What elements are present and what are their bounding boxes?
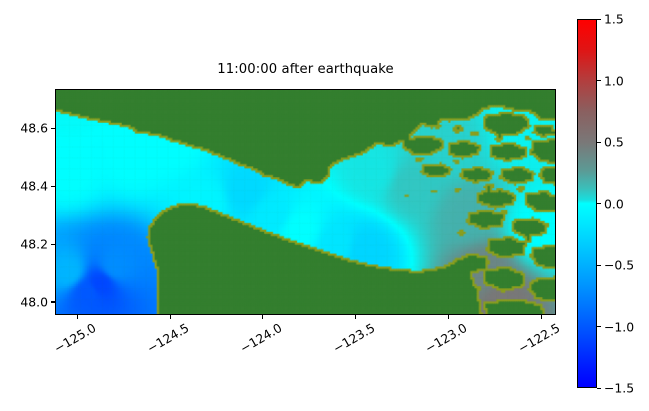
colorbar-tick-mark xyxy=(597,203,601,204)
x-tick-mark xyxy=(170,315,171,319)
y-tick-label: 48.2 xyxy=(20,237,48,252)
x-tick-label: −124.5 xyxy=(144,320,191,356)
x-tick-label: −123.0 xyxy=(423,320,470,356)
y-tick-label: 48.4 xyxy=(20,179,48,194)
x-tick-label: −125.0 xyxy=(52,320,99,356)
colorbar-tick-label: 0.5 xyxy=(604,135,624,150)
x-tick-label: −122.5 xyxy=(515,320,562,356)
y-axis: 48.048.248.448.6 xyxy=(0,0,50,411)
tsunami-figure: 11:00:00 after earthquake 48.048.248.448… xyxy=(0,0,649,411)
y-tick-mark xyxy=(51,301,55,302)
colorbar-tick-label: −1.0 xyxy=(604,319,634,334)
y-tick-label: 48.0 xyxy=(20,294,48,309)
page-title: 11:00:00 after earthquake xyxy=(55,62,556,77)
colorbar-tick-mark xyxy=(597,19,601,20)
wave-amplitude-heatmap xyxy=(56,90,555,314)
x-tick-mark xyxy=(262,315,263,319)
x-tick-mark xyxy=(541,315,542,319)
x-tick-mark xyxy=(355,315,356,319)
y-tick-mark xyxy=(51,244,55,245)
colorbar-tick-mark xyxy=(597,265,601,266)
x-tick-label: −123.5 xyxy=(330,320,377,356)
y-tick-mark xyxy=(51,128,55,129)
colorbar-tick-label: −0.5 xyxy=(604,258,634,273)
x-tick-mark xyxy=(448,315,449,319)
colorbar-tick-mark xyxy=(597,388,601,389)
x-tick-mark xyxy=(77,315,78,319)
colorbar-tick-label: 1.0 xyxy=(604,73,624,88)
colorbar-tick-mark xyxy=(597,80,601,81)
colorbar-gradient xyxy=(577,19,597,388)
colorbar-tick-mark xyxy=(597,142,601,143)
colorbar-tick-label: −1.5 xyxy=(604,381,634,396)
y-tick-label: 48.6 xyxy=(20,121,48,136)
map-axes[interactable] xyxy=(55,89,556,315)
y-tick-mark xyxy=(51,186,55,187)
colorbar-tick-label: 1.5 xyxy=(604,12,624,27)
colorbar-tick-label: 0.0 xyxy=(604,196,624,211)
colorbar-tick-mark xyxy=(597,326,601,327)
colorbar[interactable] xyxy=(577,19,597,388)
x-tick-label: −124.0 xyxy=(237,320,284,356)
